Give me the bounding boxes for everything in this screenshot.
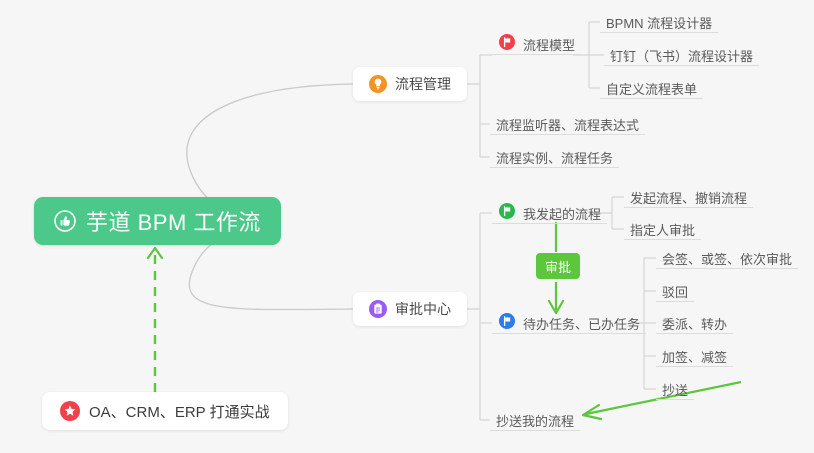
node-label-process-listener-expression: 流程监听器、流程表达式	[496, 119, 639, 132]
node-process-listener-expression[interactable]: 流程监听器、流程表达式	[490, 113, 645, 135]
node-label-bpmn-designer: BPMN 流程设计器	[606, 17, 712, 30]
node-start-cancel-process[interactable]: 发起流程、撤销流程	[624, 186, 753, 208]
flag-icon	[498, 312, 516, 330]
flag-icon	[498, 33, 516, 51]
node-todo-done-tasks[interactable]: 待办任务、已办任务	[492, 312, 646, 334]
node-reject[interactable]: 驳回	[656, 280, 694, 302]
approval-tag[interactable]: 审批	[536, 253, 580, 279]
node-bpmn-designer[interactable]: BPMN 流程设计器	[600, 11, 718, 33]
node-label-add-remove-sign: 加签、减签	[662, 351, 727, 364]
node-label-todo-done-tasks: 待办任务、已办任务	[523, 318, 640, 331]
node-label-cc: 抄送	[662, 384, 688, 397]
star-icon	[60, 401, 80, 421]
node-custom-process-form[interactable]: 自定义流程表单	[600, 77, 703, 99]
node-label-assignee-approval: 指定人审批	[630, 224, 695, 237]
annotation-dashed-arrow-up	[148, 248, 162, 392]
node-dingtalk-feishu-designer[interactable]: 钉钉（飞书）流程设计器	[604, 44, 759, 66]
node-label-start-cancel-process: 发起流程、撤销流程	[630, 192, 747, 205]
node-label-dingtalk-feishu-designer: 钉钉（飞书）流程设计器	[610, 50, 753, 63]
branch-node-approval-center[interactable]: 审批中心	[353, 292, 467, 326]
mindmap-canvas: 芋道 BPM 工作流 流程管理 流程模型 BPMN 流程设计器 钉钉（飞书）流	[0, 0, 814, 453]
node-add-remove-sign[interactable]: 加签、减签	[656, 345, 733, 367]
node-label-process-model: 流程模型	[523, 39, 575, 52]
lightbulb-icon	[369, 75, 387, 93]
node-label-cc-to-me-processes: 抄送我的流程	[496, 415, 574, 428]
node-assignee-approval[interactable]: 指定人审批	[624, 218, 701, 240]
node-process-instance-task[interactable]: 流程实例、流程任务	[490, 146, 619, 168]
oa-crm-erp-card-label: OA、CRM、ERP 打通实战	[89, 401, 270, 422]
root-label: 芋道 BPM 工作流	[86, 205, 261, 237]
node-label-my-started-processes: 我发起的流程	[523, 208, 601, 221]
node-label-delegate-transfer: 委派、转办	[662, 318, 727, 331]
node-label-reject: 驳回	[662, 286, 688, 299]
node-cc[interactable]: 抄送	[656, 378, 694, 400]
branch-node-process-management[interactable]: 流程管理	[353, 67, 467, 101]
clipboard-icon	[369, 300, 387, 318]
node-cc-to-me-processes[interactable]: 抄送我的流程	[490, 409, 580, 431]
root-node[interactable]: 芋道 BPM 工作流	[34, 197, 281, 245]
node-label-process-instance-task: 流程实例、流程任务	[496, 152, 613, 165]
branch-label-approval-center: 审批中心	[395, 299, 451, 319]
approval-tag-label: 审批	[545, 257, 571, 276]
node-delegate-transfer[interactable]: 委派、转办	[656, 312, 733, 334]
branch-label-process-management: 流程管理	[395, 74, 451, 94]
thumbs-up-icon	[54, 210, 76, 232]
node-countersign-or-sequential[interactable]: 会签、或签、依次审批	[656, 247, 798, 269]
oa-crm-erp-card[interactable]: OA、CRM、ERP 打通实战	[42, 392, 288, 430]
node-label-custom-process-form: 自定义流程表单	[606, 83, 697, 96]
node-label-countersign-or-sequential: 会签、或签、依次审批	[662, 253, 792, 266]
node-process-model[interactable]: 流程模型	[492, 33, 581, 55]
flag-icon	[498, 202, 516, 220]
node-my-started-processes[interactable]: 我发起的流程	[492, 202, 607, 224]
